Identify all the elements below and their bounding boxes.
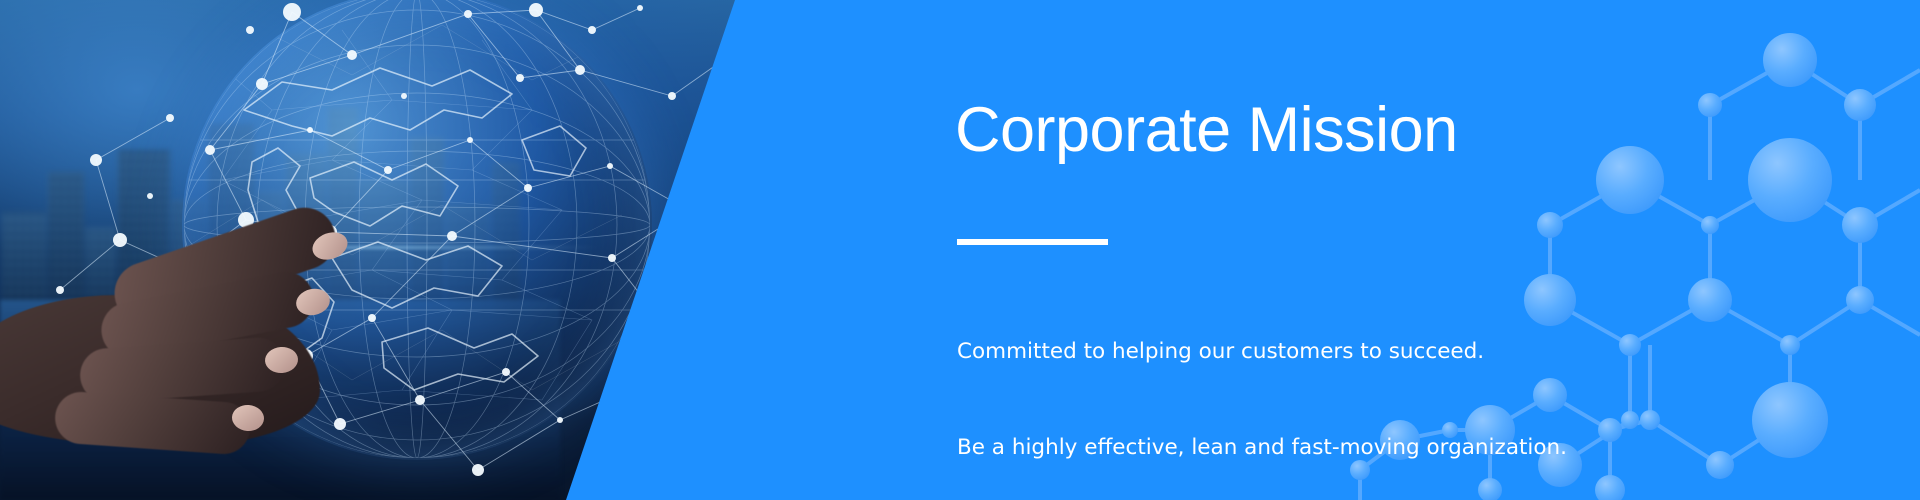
mission-line-2: Be a highly effective, lean and fast-mov… [957, 432, 1677, 464]
mission-text-block: Corporate Mission Committed to helping o… [955, 0, 1855, 500]
mission-line-1: Committed to helping our customers to su… [957, 336, 1677, 368]
human-hand [0, 225, 420, 500]
mission-statement: Committed to helping our customers to su… [957, 272, 1677, 500]
corporate-mission-banner: Corporate Mission Committed to helping o… [0, 0, 1920, 500]
title-divider [957, 239, 1108, 245]
page-title: Corporate Mission [955, 97, 1458, 163]
